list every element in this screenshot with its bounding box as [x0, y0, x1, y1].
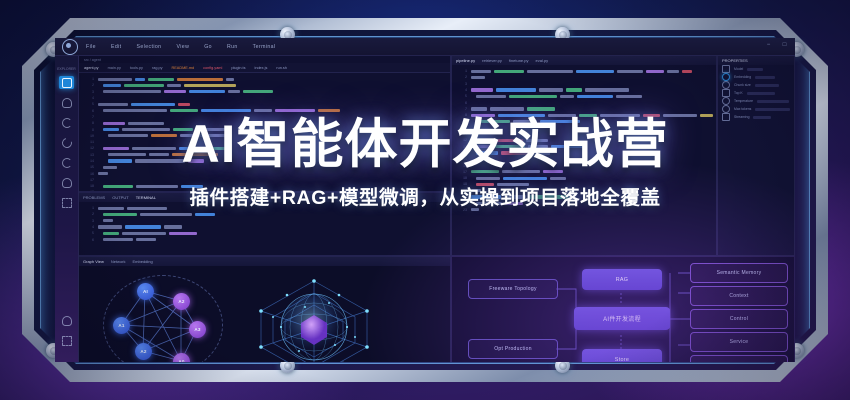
- menu-item[interactable]: Terminal: [253, 44, 276, 50]
- account-icon[interactable]: [59, 314, 74, 327]
- page-subtitle: 插件搭建+RAG+模型微调，从实操到项目落地全覆盖: [0, 181, 850, 210]
- activity-bar-bottom: [55, 314, 78, 354]
- poster-stage: File Edit Selection View Go Run Terminal…: [0, 0, 850, 400]
- headline-block: AI智能体开发实战营 插件搭建+RAG+模型微调，从实操到项目落地全覆盖: [0, 118, 850, 210]
- menu-item[interactable]: Edit: [111, 44, 122, 50]
- menu-item[interactable]: Go: [204, 44, 212, 50]
- app-logo-icon: [62, 39, 78, 55]
- activity-bar-label: EXPLORER: [55, 67, 78, 71]
- manage-gear-icon[interactable]: [59, 334, 74, 347]
- menu-item[interactable]: View: [176, 44, 189, 50]
- maximize-icon[interactable]: □: [781, 42, 788, 49]
- ide-menu-bar: File Edit Selection View Go Run Terminal…: [55, 38, 795, 56]
- search-icon[interactable]: [59, 96, 74, 109]
- menu-item[interactable]: Selection: [137, 44, 162, 50]
- window-controls: − □: [765, 42, 788, 49]
- minimize-icon[interactable]: −: [765, 42, 772, 49]
- explorer-icon[interactable]: [59, 76, 74, 89]
- menu-item[interactable]: File: [86, 44, 96, 50]
- page-title: AI智能体开发实战营: [0, 118, 850, 171]
- menu-item[interactable]: Run: [227, 44, 238, 50]
